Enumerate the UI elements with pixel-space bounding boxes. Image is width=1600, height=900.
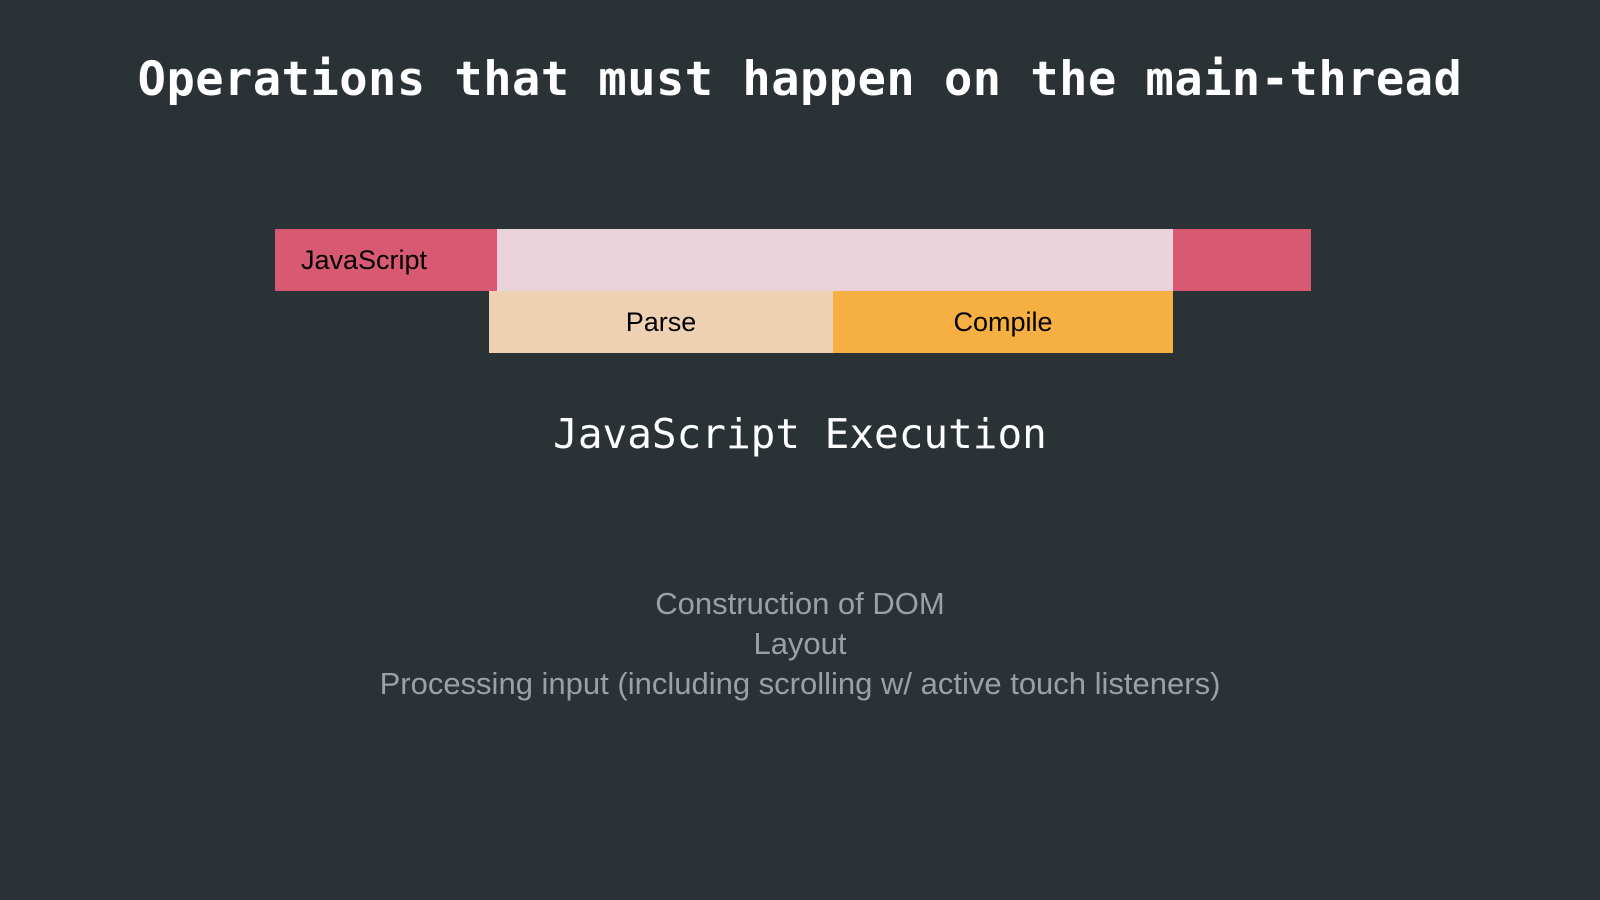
slide-canvas: Operations that must happen on the main-…	[0, 0, 1600, 900]
chart-caption: JavaScript Execution	[0, 410, 1600, 458]
timeline-segment-javascript-body	[497, 229, 1173, 291]
note-line-processing-input: Processing input (including scrolling w/…	[0, 664, 1600, 704]
note-line-construction-of-dom: Construction of DOM	[0, 584, 1600, 624]
timeline-row-javascript: JavaScript	[275, 229, 1311, 291]
main-thread-notes-list: Construction of DOM Layout Processing in…	[0, 584, 1600, 704]
timeline-row-parse-compile: Parse Compile	[275, 291, 1311, 353]
timeline-segment-compile: Compile	[833, 291, 1173, 353]
page-title: Operations that must happen on the main-…	[0, 52, 1600, 107]
timeline-segment-parse: Parse	[489, 291, 833, 353]
note-line-layout: Layout	[0, 624, 1600, 664]
timeline-segment-javascript: JavaScript	[275, 229, 497, 291]
timeline-segment-javascript-tail	[1173, 229, 1311, 291]
main-thread-timeline-chart: JavaScript Parse Compile	[275, 229, 1311, 353]
